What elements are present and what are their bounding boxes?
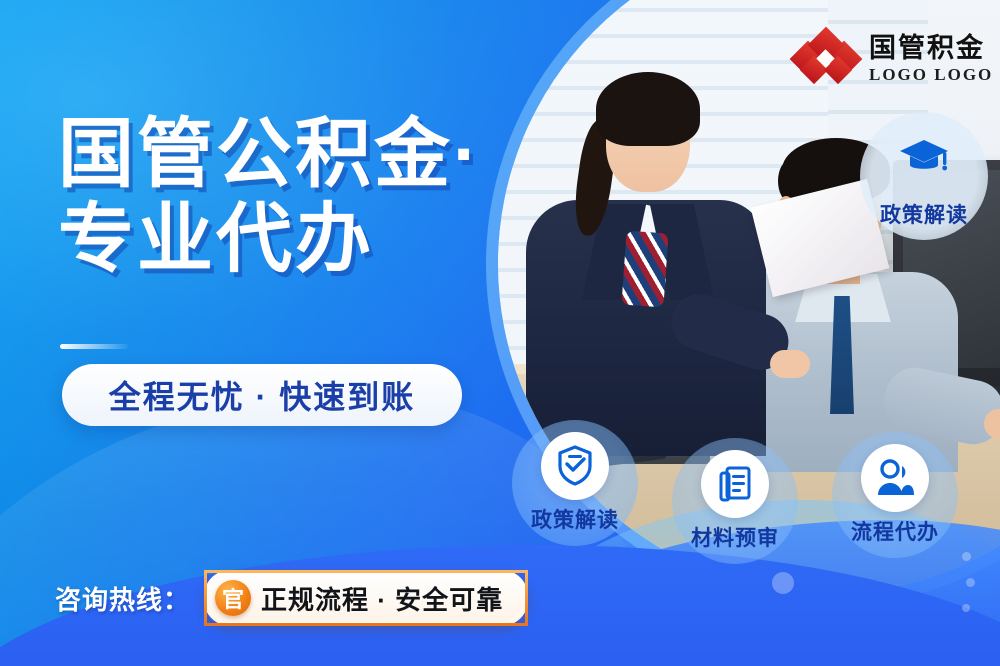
headline-line-1: 国管公积金· (58, 112, 481, 197)
decor-dot (962, 604, 970, 612)
graduation-cap-icon (888, 123, 960, 195)
brand-logo[interactable]: 国管积金 LOGO LOGO (795, 32, 993, 86)
logo-chinese-name: 国管积金 (869, 35, 993, 62)
feature-badge-policy-top[interactable]: 政策解读 (860, 112, 988, 240)
trust-badge-pill[interactable]: 官 正规流程 · 安全可靠 (204, 570, 528, 626)
users-icon (861, 444, 929, 512)
feature-badge-label: 政策解读 (531, 504, 619, 534)
decor-dot (962, 552, 971, 561)
feature-badge-process[interactable]: 流程代办 (832, 432, 958, 558)
feature-badge-label: 材料预审 (691, 522, 779, 552)
logo-latin-name: LOGO LOGO (869, 66, 993, 83)
title-divider (60, 344, 128, 349)
hotline-label: 咨询热线： (55, 580, 190, 617)
hotline-row: 咨询热线： 官 正规流程 · 安全可靠 (55, 570, 528, 626)
trust-slogan: 正规流程 · 安全可靠 (261, 580, 503, 617)
shield-check-icon (541, 432, 609, 500)
feature-badge-policy[interactable]: 政策解读 (512, 420, 638, 546)
feature-badge-label: 流程代办 (851, 516, 939, 546)
promo-banner: 国管积金 LOGO LOGO 国管公积金· 专业代办 全程无忧 · 快速到账 咨… (0, 0, 1000, 666)
document-list-icon (701, 450, 769, 518)
red-roof-diamond-icon (795, 32, 857, 86)
official-seal-icon: 官 (215, 580, 251, 616)
feature-badge-materials[interactable]: 材料预审 (672, 438, 798, 564)
feature-badge-label: 政策解读 (880, 199, 968, 229)
decor-dot (772, 572, 794, 594)
headline-line-2: 专业代办 (58, 197, 528, 282)
subtitle-text: 全程无忧 · 快速到账 (109, 372, 415, 418)
page-title: 国管公积金· 专业代办 (58, 112, 528, 282)
subtitle-pill: 全程无忧 · 快速到账 (62, 364, 462, 426)
decor-dot (966, 578, 975, 587)
